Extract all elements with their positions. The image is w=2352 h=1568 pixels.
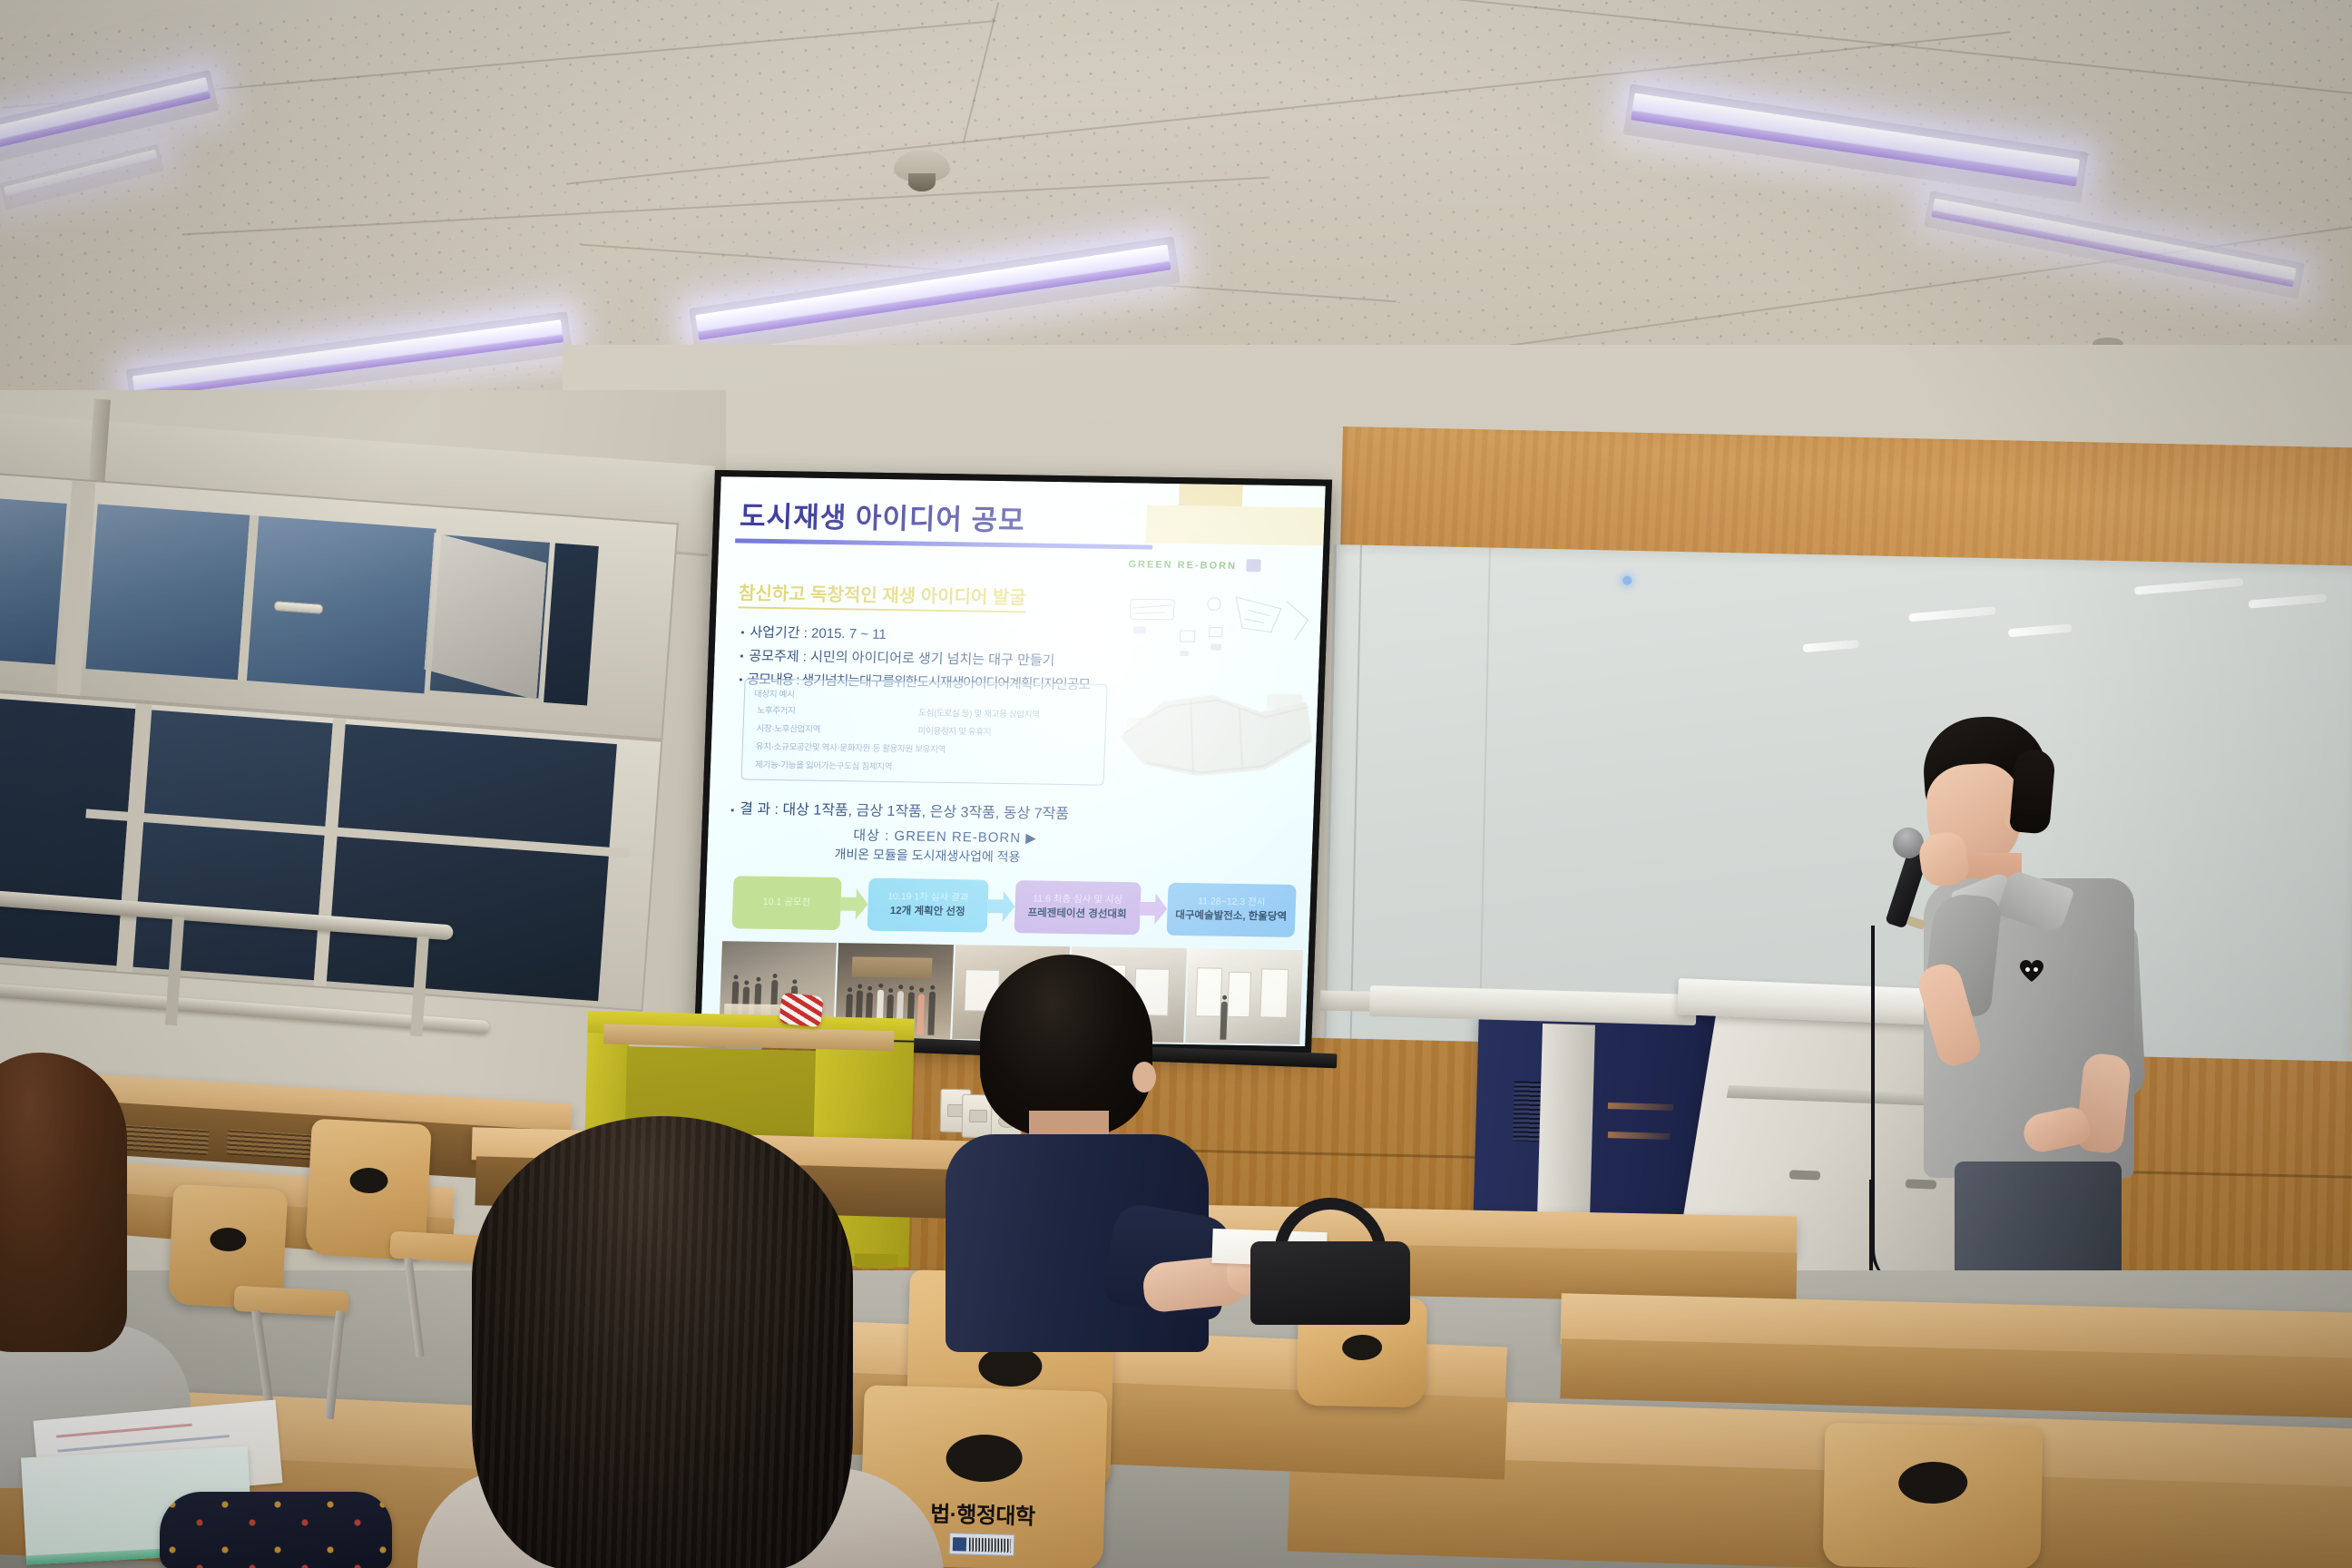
slide-process-flow: 10.1 공모전 10.19 1차 심사 결과 12개 계획안 선정 11.6 … [731, 874, 1296, 939]
slide-info-box: 대상지 예시 노후주거지 시장·노후산업지역 유치·소규모공간및 역사·문화자원… [741, 678, 1108, 785]
slide-bullet-1: 사업기간 : 2015. 7 ~ 11 [740, 622, 887, 643]
slide-bullet-2: 공모주제 : 시민의 아이디어로 생기 넘치는 대구 만들기 [740, 645, 1055, 669]
info-box-left-1: 노후주거지 [757, 703, 796, 717]
flow-box-3-top: 11.6 최종 심사 및 시상 [1033, 893, 1123, 908]
flow-box-4-bottom: 대구예술발전소, 한울당역 [1175, 908, 1287, 926]
slide-decor-tab-2 [1145, 505, 1324, 545]
info-box-right-1: 도심(도로실 등) 및 재고용 상업지역 [918, 706, 1040, 720]
info-box-left-2: 시장·노후산업지역 [756, 721, 820, 735]
flow-box-1: 10.1 공모전 [731, 876, 841, 930]
green-reborn-logo-text: GREEN RE-BORN [1128, 559, 1237, 572]
slide-sketch-thumbnails [1124, 590, 1313, 674]
slide-logo-mark [1246, 559, 1261, 572]
flow-box-3: 11.6 최종 심사 및 시상 프레젠테이션 경선대회 [1014, 880, 1141, 935]
student-navy-shirt [927, 955, 1227, 1336]
flow-arrow-3 [1140, 893, 1168, 924]
info-box-right-2: 미이용정지 및 유휴지 [917, 723, 991, 737]
student-navy-hair [980, 955, 1152, 1136]
handbag-body [1250, 1241, 1410, 1325]
patterned-pencil-case[interactable] [160, 1492, 392, 1568]
presenter-hair-back [2009, 748, 2056, 834]
presenter-left-hand [1916, 830, 1971, 889]
slide-award-line-2: 개비온 모듈을 도시재생사업에 적용 [834, 845, 1021, 866]
flow-arrow-1 [840, 888, 868, 919]
chair-far-right-front[interactable] [1823, 1423, 2043, 1568]
slide-result-line: 결 과 : 대상 1작품, 금상 1작품, 은상 3작품, 동상 7작품 [730, 796, 1070, 823]
flow-box-1-top: 10.1 공모전 [763, 896, 811, 910]
flow-box-4: 11.28~12.3 전시 대구예술발전소, 한울당역 [1166, 883, 1297, 937]
flow-arrow-2 [987, 891, 1015, 922]
student-long-hair [399, 1116, 962, 1568]
smoke-detector [894, 150, 950, 182]
flow-box-3-bottom: 프레젠테이션 경선대회 [1027, 906, 1127, 923]
info-box-left-3: 유치·소규모공간및 역사·문화자원 등 활용자원 보유지역 [756, 740, 946, 755]
lectern-knob-1[interactable] [1789, 1170, 1820, 1180]
slide-title-rule [735, 538, 1152, 549]
flow-box-2-top: 10.19 1차 심사 결과 [887, 890, 969, 906]
student-navy-ear [1132, 1062, 1156, 1093]
flow-box-2-bottom: 12개 계획안 선정 [890, 904, 965, 920]
slide-title: 도시재생 아이디어 공모 [739, 493, 1025, 538]
projector-indicator-light [1622, 576, 1632, 585]
window-wall [0, 472, 715, 1033]
window-frame-lower [0, 688, 662, 1012]
flow-box-2: 10.19 1차 심사 결과 12개 계획안 선정 [867, 878, 988, 933]
student-left-edge-hair [0, 1053, 127, 1352]
slide-decor-tab [1179, 484, 1243, 506]
student-long-hair-hair [472, 1116, 853, 1568]
microphone-ring [1906, 916, 1926, 929]
student-left-edge [0, 1053, 181, 1434]
flow-box-4-top: 11.28~12.3 전시 [1198, 895, 1266, 909]
info-box-heading: 대상지 예시 [754, 687, 795, 701]
striped-bag[interactable] [779, 993, 823, 1028]
classroom-photo-scene: 도시재생 아이디어 공모 GREEN RE-BORN 참신하고 독창적인 재생 … [0, 0, 2352, 1568]
slide-award-line-1: 대상 : GREEN RE-BORN ▶ [853, 825, 1037, 847]
slide-subtitle: 참신하고 독창적인 재생 아이디어 발굴 [738, 578, 1026, 612]
handbag-on-desk[interactable] [1250, 1198, 1410, 1318]
presenter [1851, 717, 2178, 1334]
slide-map-graphic [1109, 673, 1322, 795]
info-box-left-4: 제기능·기능을 잃어가는구도심 침체지역 [755, 758, 893, 772]
